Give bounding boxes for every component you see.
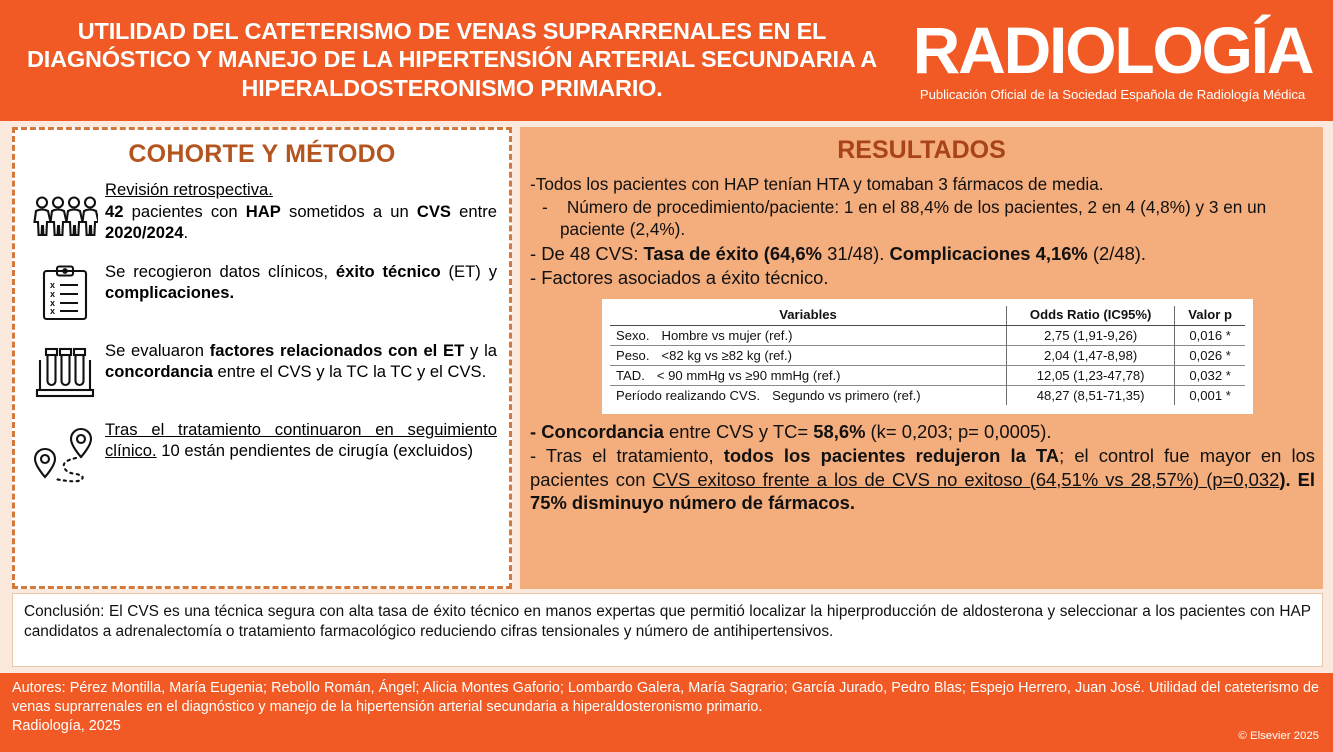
footer-journal: Radiología, 2025 xyxy=(12,717,1321,736)
results-panel: RESULTADOS -Todos los pacientes con HAP … xyxy=(520,127,1323,589)
method-item-followup-text: Tras el tratamiento continuaron en segui… xyxy=(105,419,499,462)
journal-logo-subtitle: Publicación Oficial de la Sociedad Españ… xyxy=(920,87,1305,102)
cell-odds-ratio: 48,27 (8,51-71,35) xyxy=(1007,385,1175,405)
table-row: Sexo.Hombre vs mujer (ref.) 2,75 (1,91-9… xyxy=(610,325,1245,345)
cell-p-value: 0,032 * xyxy=(1175,365,1245,385)
footer-copyright: © Elsevier 2025 xyxy=(1238,729,1319,744)
method-item-cohort-text: Revisión retrospectiva. 42 pacientes con… xyxy=(105,179,499,244)
cell-odds-ratio: 2,04 (1,47-8,98) xyxy=(1007,345,1175,365)
poster-columns: COHORTE Y MÉTODO xyxy=(0,121,1333,589)
variable-name: Período realizando CVS. xyxy=(616,388,760,403)
table-row: Período realizando CVS.Segundo vs primer… xyxy=(610,385,1245,405)
method-item-followup: Tras el tratamiento continuaron en segui… xyxy=(25,419,499,483)
method-followup-rest: 10 están pendientes de cirugía (excluido… xyxy=(161,441,473,460)
journal-logo: RADIOLOGÍA Publicación Oficial de la Soc… xyxy=(900,0,1333,121)
variable-name: Sexo. xyxy=(616,328,649,343)
method-cohort-underline: Revisión retrospectiva. xyxy=(105,180,273,199)
col-header-odds-ratio: Odds Ratio (IC95%) xyxy=(1007,306,1175,326)
page-title: UTILIDAD DEL CATETERISMO DE VENAS SUPRAR… xyxy=(14,17,890,102)
cell-p-value: 0,001 * xyxy=(1175,385,1245,405)
cohort-method-heading: COHORTE Y MÉTODO xyxy=(25,140,499,169)
test-tubes-icon xyxy=(25,340,105,402)
table-row: Peso.<82 kg vs ≥82 kg (ref.) 2,04 (1,47-… xyxy=(610,345,1245,365)
variable-name: Peso. xyxy=(616,348,649,363)
variable-level: Hombre vs mujer (ref.) xyxy=(649,328,792,343)
results-line-4: - Factores asociados a éxito técnico. xyxy=(530,266,1315,290)
method-item-data: xx xx Se recogieron datos clínicos, éxit… xyxy=(25,261,499,323)
cell-p-value: 0,026 * xyxy=(1175,345,1245,365)
factors-table-container: Variables Odds Ratio (IC95%) Valor p Sex… xyxy=(602,299,1253,414)
col-header-variables: Variables xyxy=(610,306,1007,326)
conclusion-box: Conclusión: El CVS es una técnica segura… xyxy=(12,593,1323,667)
method-item-cohort: Revisión retrospectiva. 42 pacientes con… xyxy=(25,179,499,244)
cell-p-value: 0,016 * xyxy=(1175,325,1245,345)
clipboard-checklist-icon: xx xx xyxy=(25,261,105,323)
method-item-factors: Se evaluaron factores relacionados con e… xyxy=(25,340,499,402)
results-heading: RESULTADOS xyxy=(528,136,1315,165)
route-map-pins-icon xyxy=(25,419,105,483)
method-item-data-text: Se recogieron datos clínicos, éxito técn… xyxy=(105,261,499,304)
poster-root: UTILIDAD DEL CATETERISMO DE VENAS SUPRAR… xyxy=(0,0,1333,752)
variable-name: TAD. xyxy=(616,368,645,383)
results-treatment-line: - Tras el tratamiento, todos los pacient… xyxy=(530,444,1315,515)
results-line-2: - Número de procedimiento/paciente: 1 en… xyxy=(542,197,1315,241)
cell-odds-ratio: 12,05 (1,23-47,78) xyxy=(1007,365,1175,385)
method-item-factors-text: Se evaluaron factores relacionados con e… xyxy=(105,340,499,383)
variable-level: Segundo vs primero (ref.) xyxy=(760,388,920,403)
svg-text:x: x xyxy=(50,306,55,316)
footer-authors: Autores: Pérez Montilla, María Eugenia; … xyxy=(12,679,1321,717)
col-header-p-value: Valor p xyxy=(1175,306,1245,326)
variable-level: <82 kg vs ≥82 kg (ref.) xyxy=(649,348,792,363)
cell-variable: Sexo.Hombre vs mujer (ref.) xyxy=(610,325,1007,345)
poster-footer: Autores: Pérez Montilla, María Eugenia; … xyxy=(0,673,1333,752)
poster-header: UTILIDAD DEL CATETERISMO DE VENAS SUPRAR… xyxy=(0,0,1333,121)
results-line-1: -Todos los pacientes con HAP tenían HTA … xyxy=(530,174,1315,196)
cell-variable: Peso.<82 kg vs ≥82 kg (ref.) xyxy=(610,345,1007,365)
results-concordance-line: - Concordancia entre CVS y TC= 58,6% (k=… xyxy=(530,420,1315,444)
header-title-block: UTILIDAD DEL CATETERISMO DE VENAS SUPRAR… xyxy=(0,0,900,121)
cell-variable: TAD.< 90 mmHg vs ≥90 mmHg (ref.) xyxy=(610,365,1007,385)
cell-odds-ratio: 2,75 (1,91-9,26) xyxy=(1007,325,1175,345)
results-line-3: - De 48 CVS: Tasa de éxito (64,6% 31/48)… xyxy=(530,242,1315,266)
cohort-method-panel: COHORTE Y MÉTODO xyxy=(12,127,512,589)
journal-logo-wordmark: RADIOLOGÍA xyxy=(913,19,1313,82)
people-group-icon xyxy=(25,179,105,239)
variable-level: < 90 mmHg vs ≥90 mmHg (ref.) xyxy=(645,368,841,383)
table-row: TAD.< 90 mmHg vs ≥90 mmHg (ref.) 12,05 (… xyxy=(610,365,1245,385)
table-header-row: Variables Odds Ratio (IC95%) Valor p xyxy=(610,306,1245,326)
cell-variable: Período realizando CVS.Segundo vs primer… xyxy=(610,385,1007,405)
factors-table: Variables Odds Ratio (IC95%) Valor p Sex… xyxy=(610,306,1245,405)
